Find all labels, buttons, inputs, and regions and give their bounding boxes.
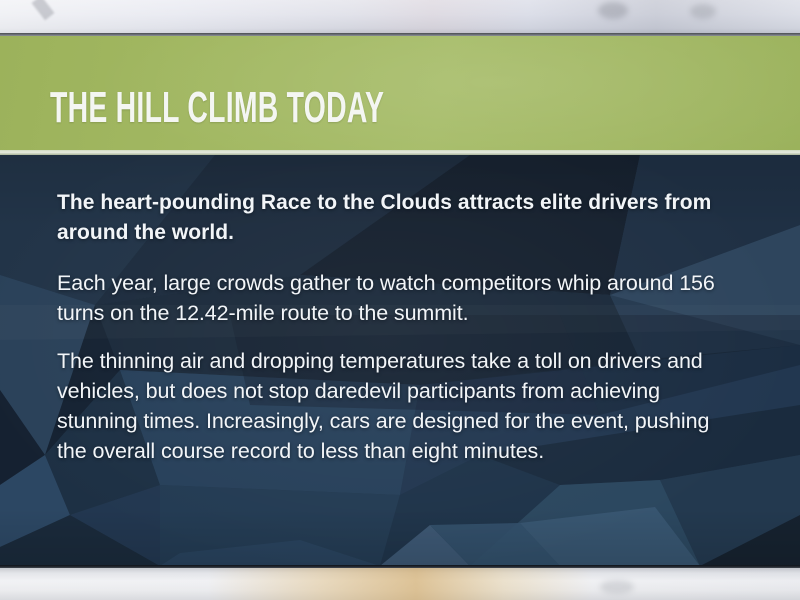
sign-paragraph-lead: The heart-pounding Race to the Clouds at… <box>57 188 729 248</box>
sign-paragraph-2: Each year, large crowds gather to watch … <box>57 268 729 328</box>
interpretive-sign-photo: THE HILL CLIMB TODAY <box>0 0 800 600</box>
frame-top-sheen <box>0 0 800 36</box>
sign-paragraph-3: The thinning air and dropping temperatur… <box>57 346 729 466</box>
frame-bottom-reflection <box>0 568 800 600</box>
sign-frame-bottom <box>0 568 800 600</box>
sign-body-copy: The heart-pounding Race to the Clouds at… <box>57 188 729 466</box>
sign-title: THE HILL CLIMB TODAY <box>50 86 384 130</box>
frame-bottom-smudge <box>600 580 634 594</box>
frame-smudge-left <box>598 2 628 19</box>
sign-frame-top <box>0 0 800 36</box>
frame-smudge-right <box>690 4 716 19</box>
sign-body-panel: The heart-pounding Race to the Clouds at… <box>0 155 800 566</box>
